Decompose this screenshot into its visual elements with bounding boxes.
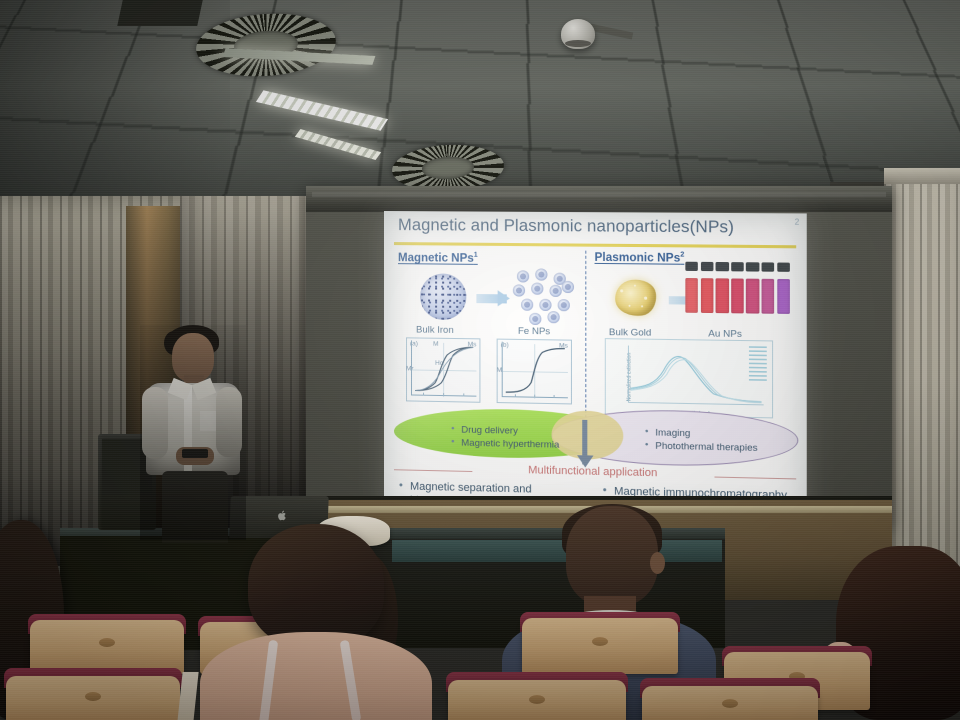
ceiling-corner-shadow: [0, 0, 230, 215]
fe-nanoparticle-icon: [549, 285, 561, 297]
woman-hair: [248, 524, 384, 648]
slide-number: 2: [795, 217, 800, 226]
lecture-hall-seat[interactable]: [522, 618, 678, 674]
venn-bullets-magnetic: Drug deliveryMagnetic hyperthermia: [410, 422, 559, 453]
fe-nanoparticle-icon: [521, 299, 533, 311]
footnote-marker-1: 1: [474, 252, 478, 259]
section-heading-plasmonic: Plasmonic NPs2: [595, 251, 685, 265]
fe-nanoparticle-icon: [513, 284, 525, 296]
apple-logo-icon: [276, 509, 288, 522]
bulk-gold-nugget-icon: [613, 277, 659, 318]
lecture-hall-seat[interactable]: [642, 686, 818, 720]
gold-sparkle: [620, 289, 623, 292]
gold-sparkle: [634, 284, 636, 286]
man-head: [566, 506, 658, 606]
projected-slide: 2 Magnetic and Plasmonic nanoparticles(N…: [384, 211, 807, 523]
au-nps-vial-array: [685, 262, 790, 327]
section-heading-plasmonic-text: Plasmonic NPs: [595, 252, 681, 265]
gold-sparkle: [641, 305, 643, 307]
window-curtain-right: [884, 168, 960, 588]
gold-sparkle: [628, 305, 630, 307]
multifunctional-label: Multifunctional application: [528, 464, 657, 479]
title-underline: [394, 242, 796, 248]
caption-fe-nps: Fe NPs: [518, 326, 550, 338]
vial-cap: [701, 262, 714, 271]
vial-body: [777, 279, 790, 314]
caption-bulk-iron: Bulk Iron: [416, 324, 454, 336]
hysteresis-plot-a: (a) M Ms Mr Hc: [406, 337, 480, 402]
vial-cap: [777, 263, 790, 272]
spectrum-curves: [606, 339, 772, 417]
fe-nanoparticle-cluster-icon: [513, 268, 574, 327]
vial-cap: [746, 262, 759, 271]
divider-rule-left: [394, 469, 472, 472]
presenter-shading: [140, 325, 246, 540]
caption-bulk-gold: Bulk Gold: [609, 327, 651, 339]
woman-shoulders: [200, 632, 432, 720]
hysteresis-plot-b: (b) Ms M: [497, 339, 572, 405]
section-heading-magnetic: Magnetic NPs1: [398, 251, 478, 265]
plot-b-curve: [498, 340, 571, 404]
uv-vis-spectrum-plot: Normalized extinction Wavelength (nm): [605, 338, 773, 418]
lecture-hall-seat[interactable]: [6, 676, 180, 720]
transform-arrow-icon: [476, 294, 506, 303]
fe-nanoparticle-icon: [517, 270, 529, 282]
plot-a-curves: [407, 338, 479, 401]
caption-au-nps: Au NPs: [708, 328, 742, 340]
fe-nanoparticle-icon: [529, 313, 541, 325]
fe-nanoparticle-icon: [558, 299, 570, 311]
lecture-hall-photo: 2 Magnetic and Plasmonic nanoparticles(N…: [0, 0, 960, 720]
man-ear: [650, 552, 665, 574]
curtain-rod: [884, 168, 960, 184]
venn-bullet-magnetic: Magnetic hyperthermia: [450, 437, 559, 453]
fe-nanoparticle-icon: [531, 283, 543, 295]
venn-bullets-plasmonic: ImagingPhotothermal therapies: [603, 425, 758, 456]
gold-sparkle: [644, 296, 647, 299]
au-np-vial: [746, 262, 759, 326]
vial-body: [731, 278, 744, 313]
au-np-vial: [761, 262, 774, 326]
vial-body: [746, 279, 759, 314]
au-np-vial: [701, 262, 714, 325]
au-np-vial: [716, 262, 729, 326]
drop-ceiling: [0, 0, 960, 215]
lecture-hall-seat[interactable]: [448, 680, 626, 720]
lecture-hall-seat[interactable]: [30, 620, 184, 674]
vial-body: [701, 278, 714, 313]
fe-nanoparticle-icon: [547, 311, 559, 323]
fe-nanoparticle-icon: [562, 281, 574, 293]
ceiling-recess: [117, 0, 203, 26]
ceiling-dome-camera-icon: [561, 19, 595, 49]
fe-nanoparticle-icon: [539, 299, 551, 311]
footnote-marker-2: 2: [680, 251, 684, 258]
section-heading-magnetic-text: Magnetic NPs: [398, 252, 474, 265]
au-np-vial: [777, 263, 790, 327]
presenter: [140, 325, 246, 540]
au-np-vial: [685, 262, 698, 325]
vial-cap: [685, 262, 698, 271]
vial-cap: [716, 262, 729, 271]
fe-nanoparticle-icon: [535, 268, 547, 280]
au-np-vial: [731, 262, 744, 326]
projection-screen-roller: [306, 186, 892, 212]
audience-member-center: [186, 524, 434, 720]
vial-body: [685, 278, 698, 313]
venn-bullet-plasmonic: Photothermal therapies: [644, 440, 758, 456]
bulk-iron-sphere-icon: [420, 273, 466, 320]
slide-title: Magnetic and Plasmonic nanoparticles(NPs…: [398, 216, 734, 237]
vial-cap: [731, 262, 744, 271]
vial-body: [716, 278, 729, 313]
vial-body: [761, 279, 774, 314]
down-arrow-icon: [582, 420, 587, 465]
column-divider: [585, 251, 586, 423]
vial-cap: [761, 262, 774, 271]
divider-rule-right: [714, 477, 796, 480]
